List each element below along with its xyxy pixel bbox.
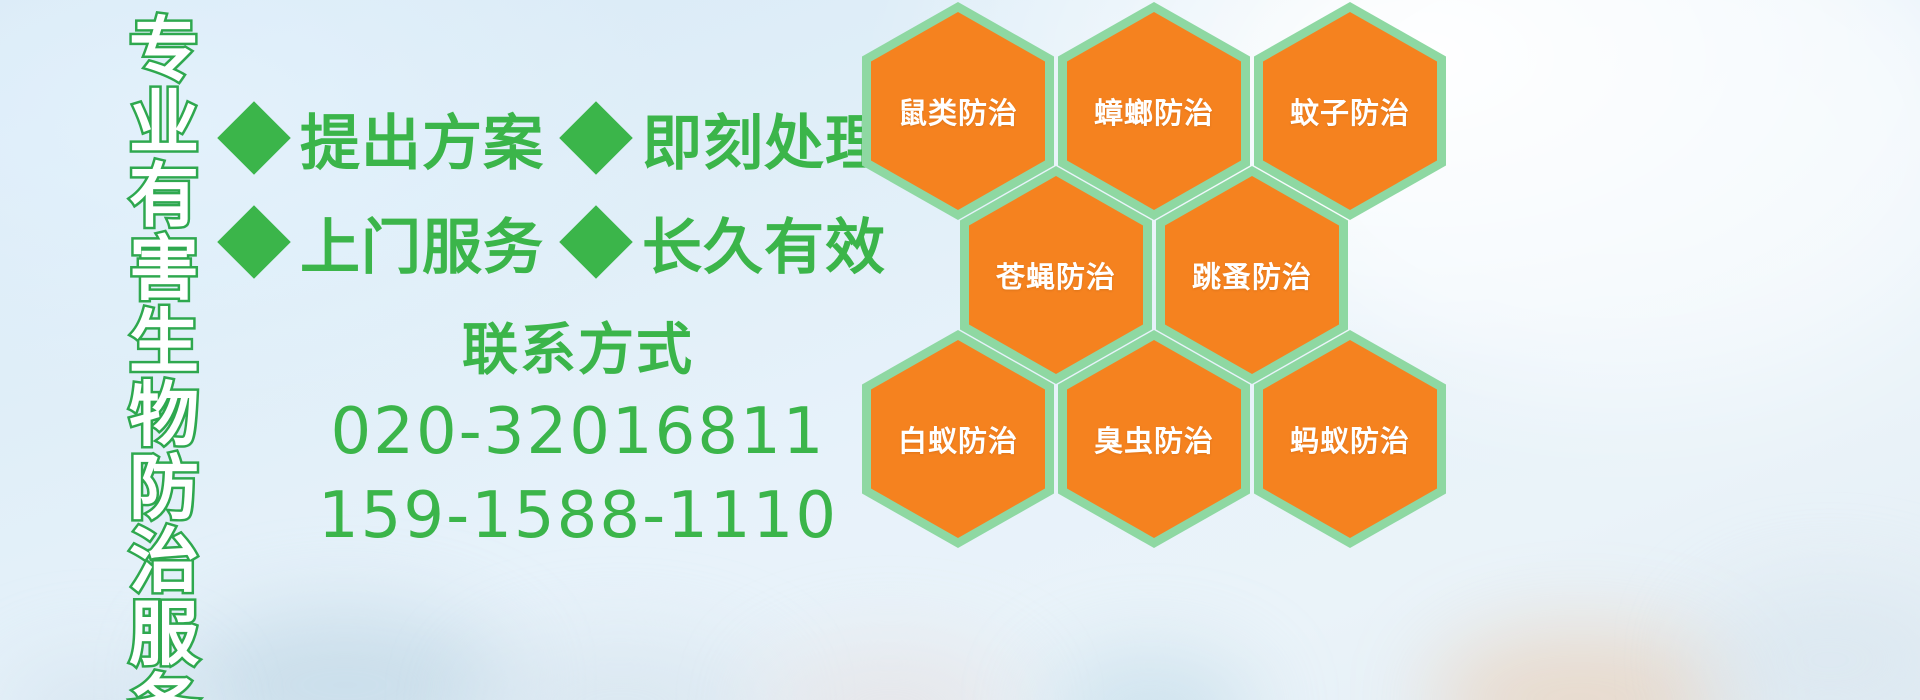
vertical-headline-char: 务 xyxy=(129,671,199,700)
background-blur-blob xyxy=(180,610,510,700)
vertical-headline-char: 治 xyxy=(129,525,199,598)
vertical-headline: 专 业 有 害 生 物 防 治 服 务 xyxy=(108,14,220,686)
vertical-headline-char: 有 xyxy=(129,160,199,233)
feature-label: 提出方案 xyxy=(300,95,544,182)
vertical-headline-char: 业 xyxy=(129,87,199,160)
contact-heading: 联系方式 xyxy=(228,312,928,390)
background-blur-blob xyxy=(470,640,770,700)
feature-item-onsite-service: 上门服务 xyxy=(228,199,544,286)
service-honeycomb: 鼠类防治 蟑螂防治 蚊子防治 苍蝇防治 跳蚤防治 白蚁防治 臭虫防治 xyxy=(862,0,1482,700)
hex-label: 蚂蚁防治 xyxy=(1290,418,1410,460)
feature-label: 上门服务 xyxy=(300,199,544,286)
hex-label: 白蚁防治 xyxy=(898,418,1018,460)
feature-list: 提出方案 即刻处理 上门服务 长久有效 xyxy=(228,86,878,294)
diamond-bullet-icon xyxy=(217,205,291,279)
feature-item-immediate-treatment: 即刻处理 xyxy=(570,95,886,182)
hex-label: 跳蚤防治 xyxy=(1192,254,1312,296)
vertical-headline-char: 生 xyxy=(129,306,199,379)
vertical-headline-char: 服 xyxy=(129,598,199,671)
phone-mobile[interactable]: 159-1588-1110 xyxy=(228,474,928,558)
hex-label: 蚊子防治 xyxy=(1290,90,1410,132)
pest-control-banner: 专 业 有 害 生 物 防 治 服 务 提出方案 即刻处理 上门服务 xyxy=(0,0,1920,700)
feature-row: 上门服务 长久有效 xyxy=(228,190,878,294)
hex-label: 苍蝇防治 xyxy=(996,254,1116,296)
feature-label: 即刻处理 xyxy=(642,95,886,182)
hex-label: 臭虫防治 xyxy=(1094,418,1214,460)
hex-label: 鼠类防治 xyxy=(898,90,1018,132)
diamond-bullet-icon xyxy=(559,101,633,175)
phone-landline[interactable]: 020-32016811 xyxy=(228,390,928,474)
feature-item-propose-plan: 提出方案 xyxy=(228,95,544,182)
hex-label: 蟑螂防治 xyxy=(1094,90,1214,132)
feature-item-long-lasting: 长久有效 xyxy=(570,199,886,286)
diamond-bullet-icon xyxy=(217,101,291,175)
diamond-bullet-icon xyxy=(559,205,633,279)
vertical-headline-char: 防 xyxy=(129,452,199,525)
vertical-headline-char: 专 xyxy=(129,14,199,87)
vertical-headline-char: 物 xyxy=(129,379,199,452)
contact-block: 联系方式 020-32016811 159-1588-1110 xyxy=(228,312,928,558)
feature-row: 提出方案 即刻处理 xyxy=(228,86,878,190)
feature-label: 长久有效 xyxy=(642,199,886,286)
vertical-headline-char: 害 xyxy=(129,233,199,306)
background-blur-blob xyxy=(1700,585,1920,700)
